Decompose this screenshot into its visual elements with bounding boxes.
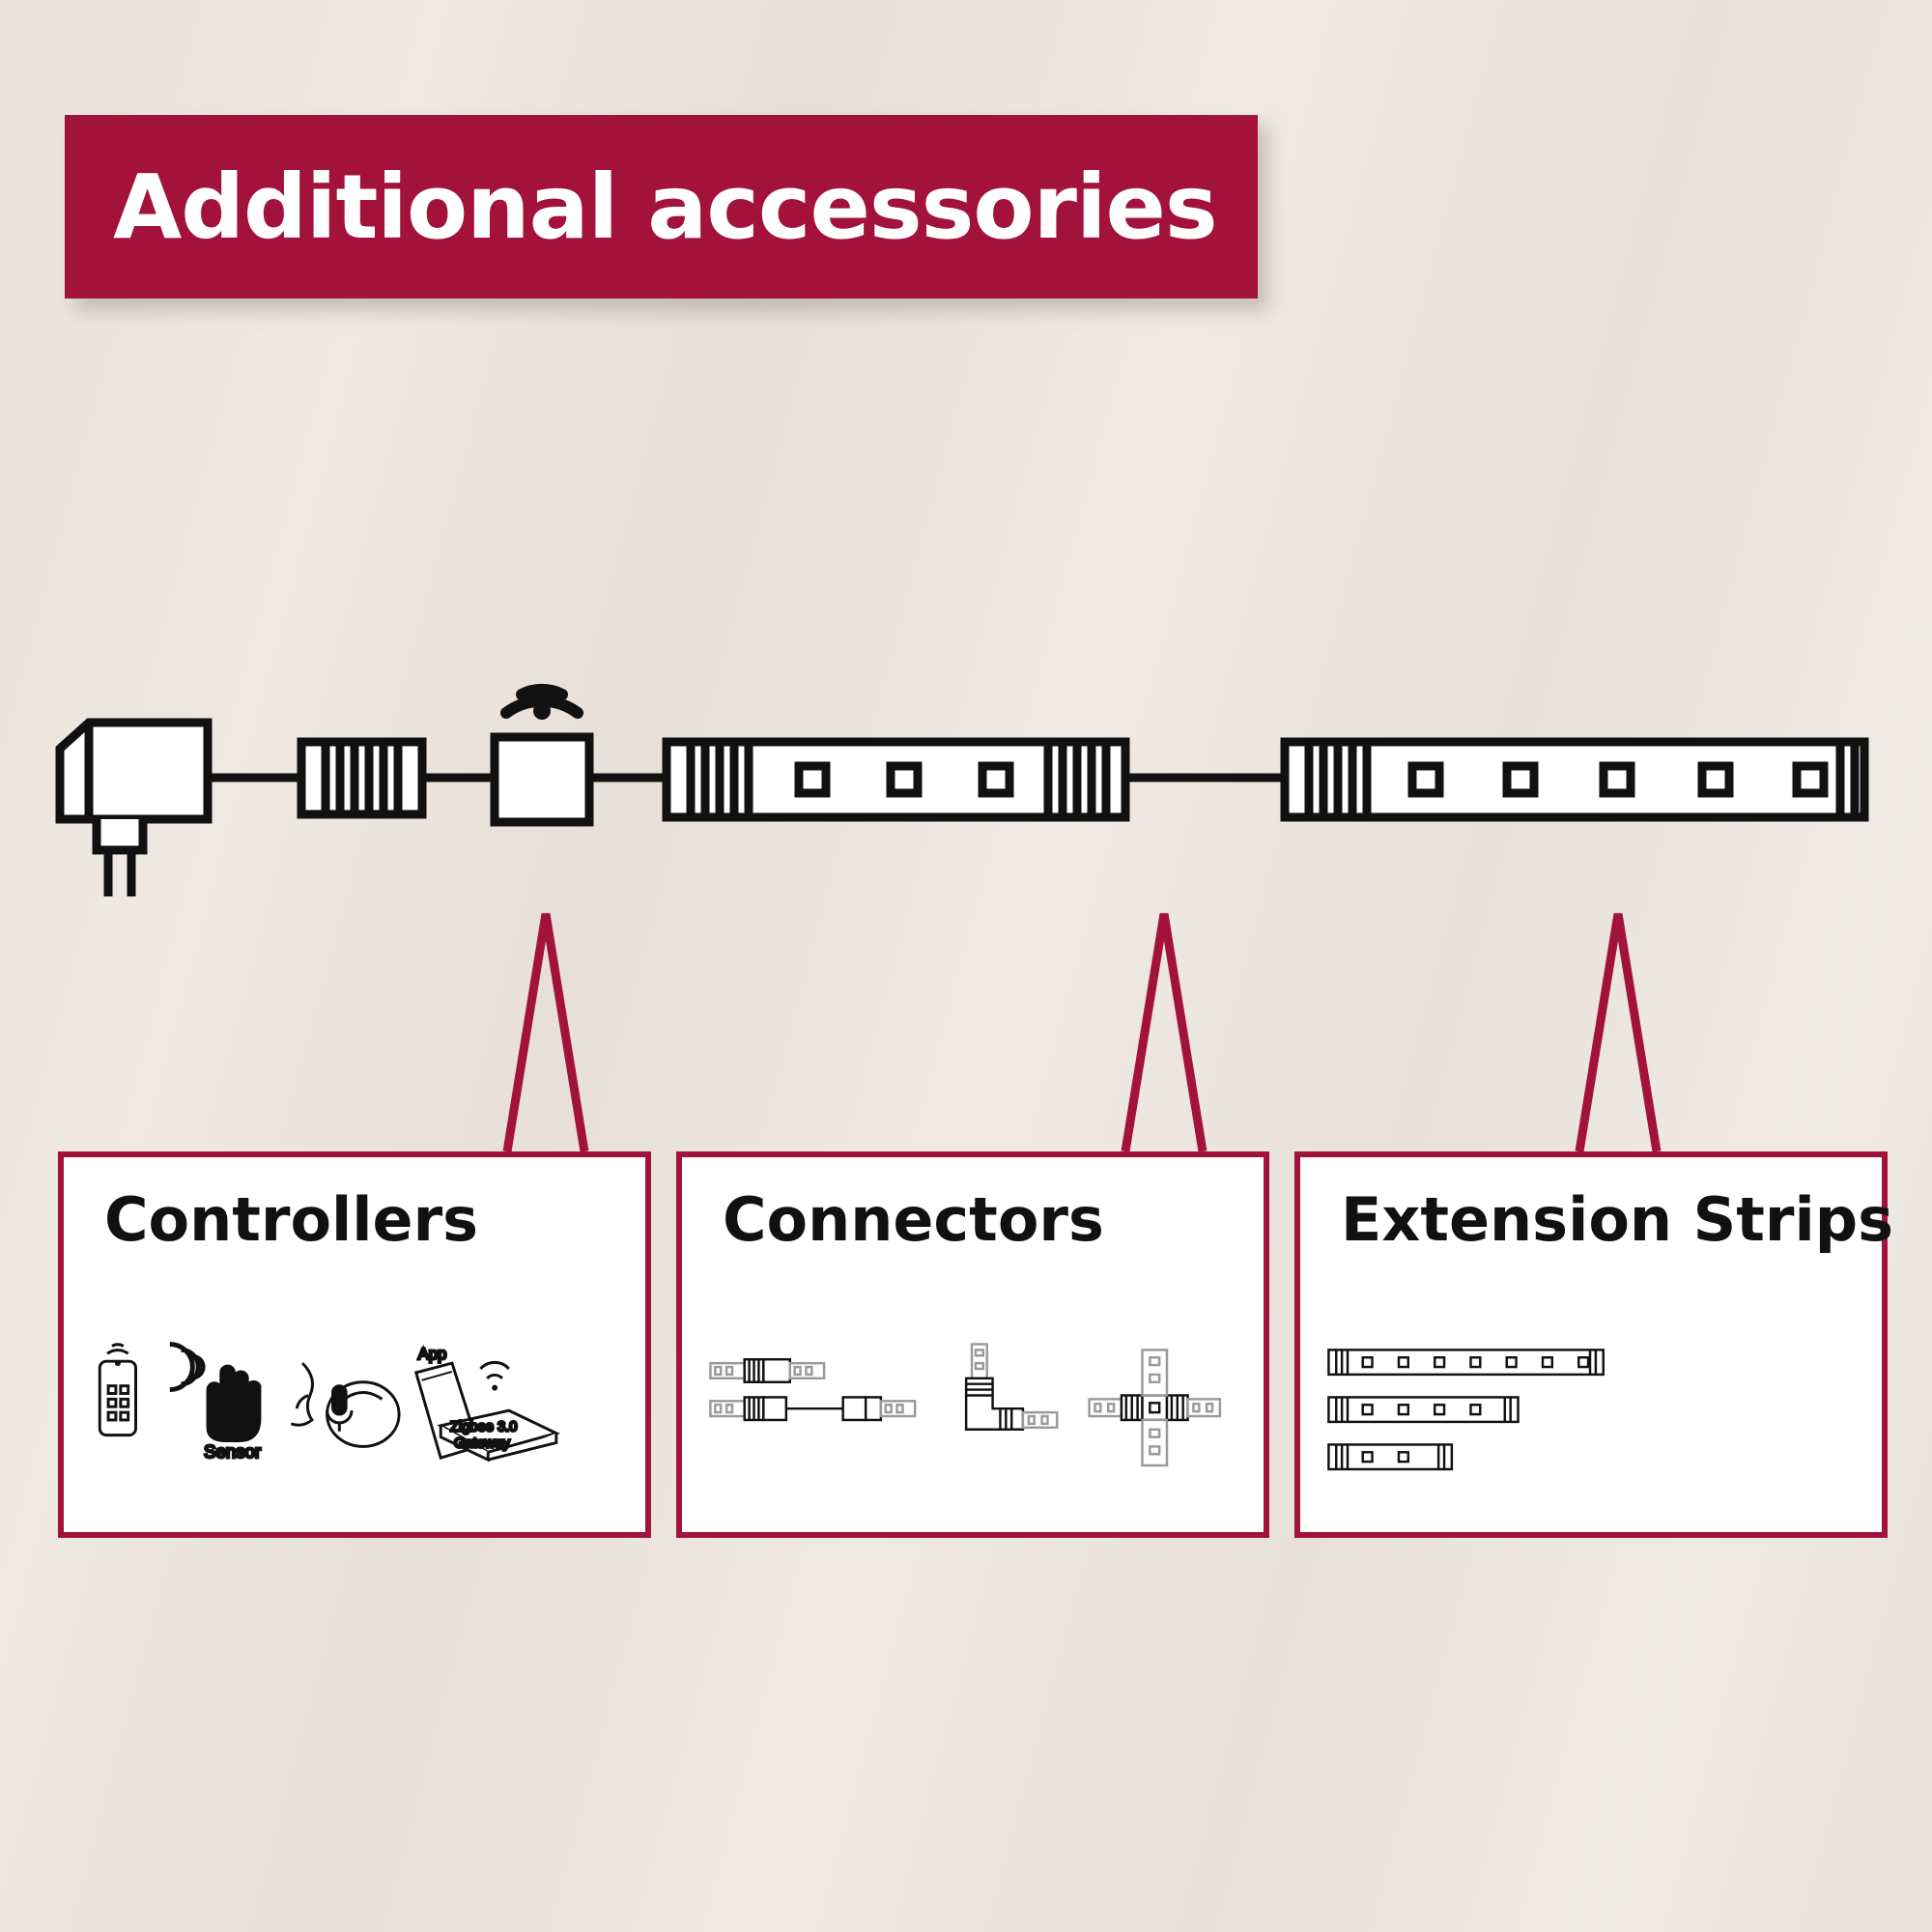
system-diagram <box>0 0 1932 1932</box>
led-strip-segment-2 <box>1285 742 1864 817</box>
card-connectors-title: Connectors <box>723 1184 1104 1255</box>
card-controllers-art: Sensor App <box>64 1302 645 1534</box>
motion-sensor-label: Sensor <box>204 1441 261 1462</box>
card-controllers[interactable]: Controllers Senso <box>58 1151 651 1538</box>
card-extension-art <box>1300 1302 1882 1534</box>
card-connectors[interactable]: Connectors <box>676 1151 1269 1538</box>
pointer-controllers <box>507 914 584 1151</box>
corner-connector-icon <box>966 1345 1057 1430</box>
card-extension-title: Extension Strips <box>1341 1184 1893 1255</box>
power-supply-icon <box>60 723 208 896</box>
extension-strip-long-icon <box>1328 1350 1603 1374</box>
extension-strip-medium-icon <box>1328 1397 1518 1421</box>
cross-connector-icon <box>1090 1350 1220 1465</box>
gateway-label: Gateway <box>454 1435 511 1451</box>
inline-connector-1 <box>301 742 422 814</box>
led-strip-segment-1 <box>667 742 1125 817</box>
extension-strip-short-icon <box>1328 1444 1451 1468</box>
gateway-wifi-icon <box>480 1362 508 1390</box>
remote-control-icon <box>99 1345 135 1435</box>
wireless-controller-icon <box>495 737 589 822</box>
card-connectors-art <box>682 1302 1264 1534</box>
wifi-dot <box>533 702 551 720</box>
card-extension-strips[interactable]: Extension Strips <box>1294 1151 1888 1538</box>
zigbee-label: Zigbee 3.0 <box>450 1420 517 1435</box>
app-label: App <box>418 1345 447 1363</box>
callout-pointers <box>507 914 1657 1151</box>
straight-connector-icon <box>710 1359 915 1420</box>
card-controllers-title: Controllers <box>104 1184 478 1255</box>
motion-sensor-icon <box>170 1345 260 1441</box>
voice-assistant-icon <box>291 1363 399 1446</box>
pointer-connectors <box>1125 914 1203 1151</box>
pointer-extension <box>1579 914 1657 1151</box>
